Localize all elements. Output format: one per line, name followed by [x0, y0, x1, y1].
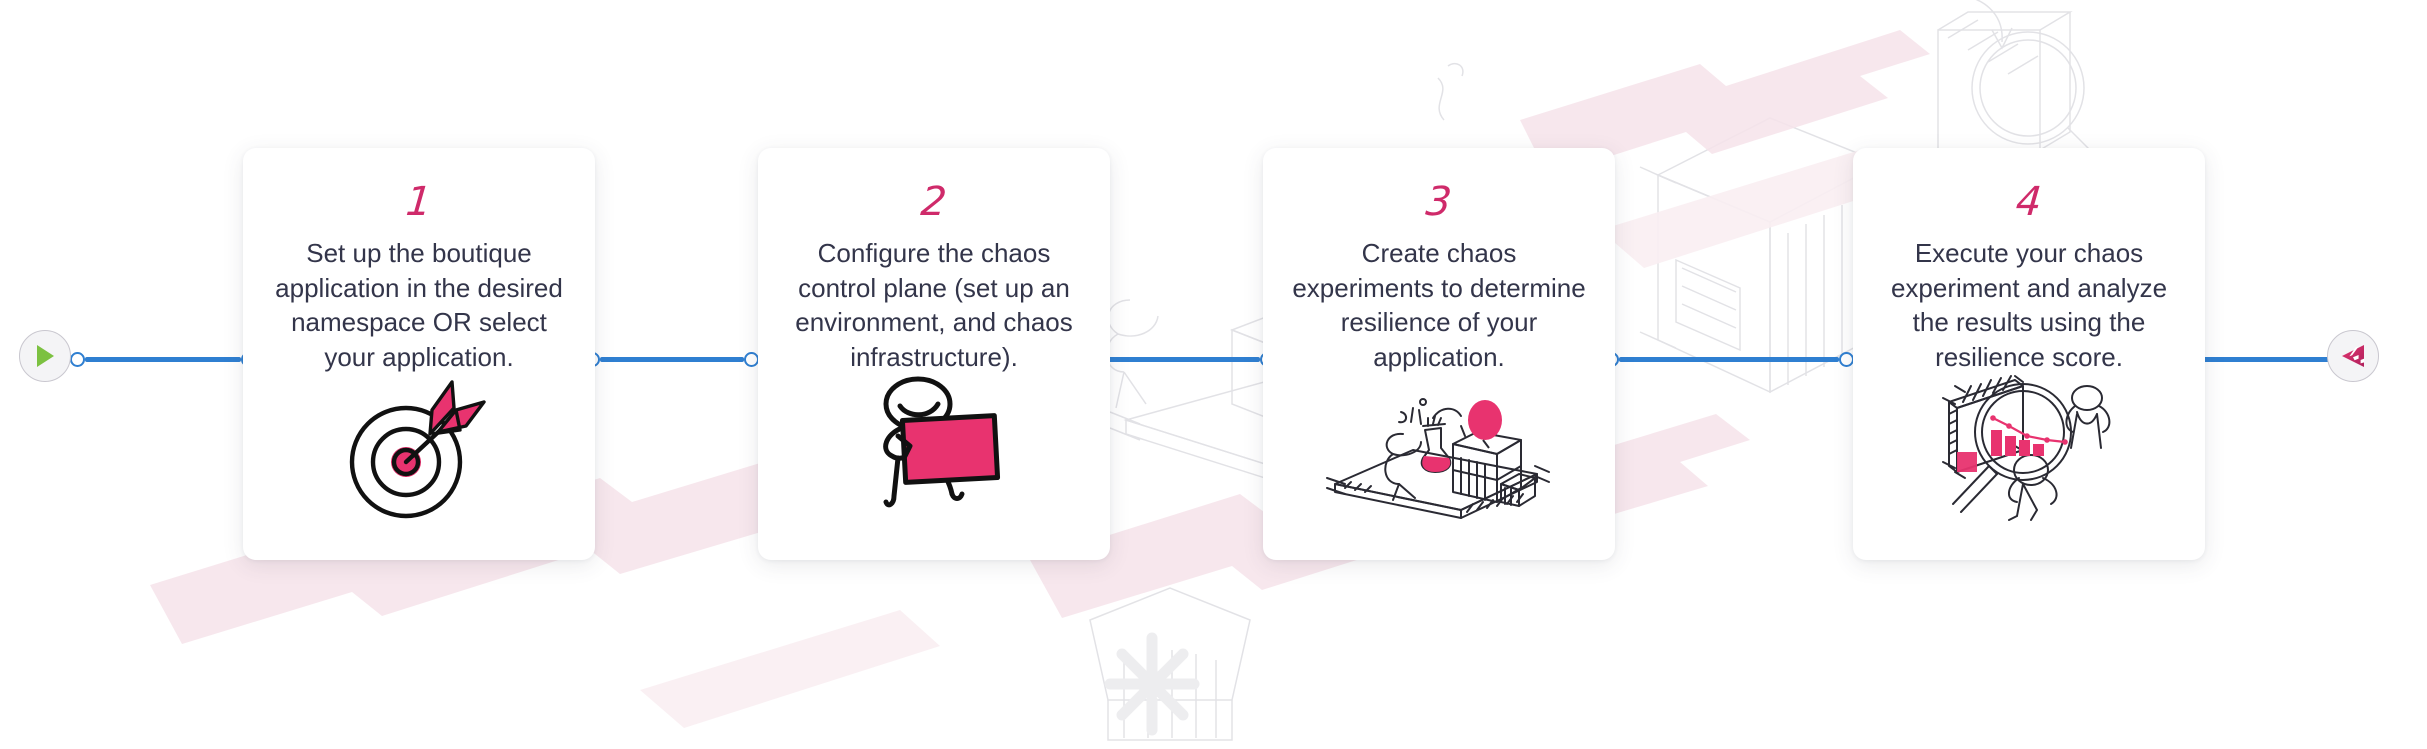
step-illustration-dartboard	[263, 374, 575, 529]
litmus-logo-icon	[2338, 341, 2368, 371]
step-description: Set up the boutique application in the d…	[268, 236, 570, 374]
connector-dot[interactable]	[70, 352, 85, 367]
connector-start-to-step-1	[70, 356, 256, 362]
flow-end-node[interactable]	[2327, 330, 2379, 382]
step-number: 1	[405, 182, 434, 222]
flow-start-node[interactable]	[19, 330, 71, 382]
step-description: Execute your chaos experiment and analyz…	[1878, 236, 2180, 374]
connector-step-1-to-step-2	[585, 356, 759, 362]
step-card-3[interactable]: 3 Create chaos experiments to determine …	[1263, 148, 1615, 560]
step-number: 4	[2015, 182, 2044, 222]
dartboard-arrow-illustration	[334, 374, 504, 529]
connector-dot[interactable]	[744, 352, 759, 367]
step-number: 2	[920, 182, 949, 222]
scientist-flask-platform-illustration	[1325, 392, 1553, 522]
connector-line	[2197, 357, 2334, 362]
play-icon	[32, 342, 58, 370]
connector-line	[85, 357, 241, 362]
connector-line	[1104, 357, 1260, 362]
step-illustration-scientist	[1283, 392, 1595, 522]
step-card-4[interactable]: 4 Execute your chaos experiment and anal…	[1853, 148, 2205, 560]
step-card-1[interactable]: 1 Set up the boutique application in the…	[243, 148, 595, 560]
connector-step-4-to-end	[2182, 356, 2349, 362]
step-description: Create chaos experiments to determine re…	[1288, 236, 1590, 374]
connector-step-3-to-step-4	[1604, 356, 1854, 362]
magnifier-chart-illustration	[1919, 374, 2139, 522]
workflow-diagram: 1 Set up the boutique application in the…	[0, 0, 2427, 749]
connector-line	[1619, 357, 1839, 362]
person-holding-sign-illustration	[854, 374, 1014, 524]
step-card-2[interactable]: 2 Configure the chaos control plane (set…	[758, 148, 1110, 560]
connector-dot[interactable]	[1839, 352, 1854, 367]
step-description: Configure the chaos control plane (set u…	[783, 236, 1085, 374]
connector-step-2-to-step-3	[1089, 356, 1275, 362]
step-illustration-person-sign	[778, 374, 1090, 524]
connector-line	[600, 357, 744, 362]
step-number: 3	[1425, 182, 1454, 222]
step-illustration-magnifier-chart	[1873, 374, 2185, 522]
